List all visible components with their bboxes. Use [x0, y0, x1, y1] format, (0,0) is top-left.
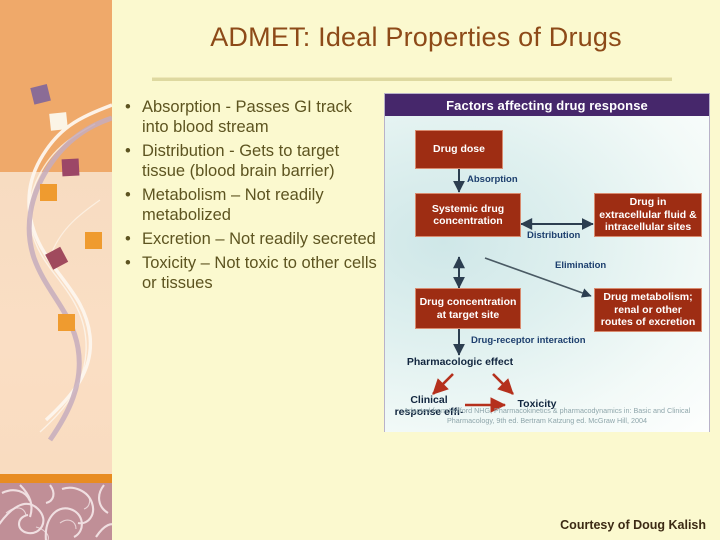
figure-caption: Adapted from Holford NHG, Pharmacokineti… — [399, 406, 695, 426]
bullet-marker-icon: • — [125, 229, 131, 249]
figure-body: Drug dose Systemic drug concentration Dr… — [385, 116, 709, 432]
slide-canvas: ADMET: Ideal Properties of Drugs • Absor… — [0, 0, 720, 540]
box-drug-concentration-target: Drug concentration at target site — [415, 288, 521, 329]
footer-credit: Courtesy of Doug Kalish — [560, 518, 706, 532]
list-item: • Distribution - Gets to target tissue (… — [120, 141, 382, 181]
sidebar-paisley-texture — [0, 483, 112, 540]
bullet-marker-icon: • — [125, 141, 131, 161]
bullet-list: • Absorption - Passes GI track into bloo… — [120, 97, 382, 297]
bullet-marker-icon: • — [125, 253, 131, 273]
box-drug-extracellular: Drug in extracellular fluid & intracellu… — [594, 193, 702, 237]
label-drug-receptor-interaction: Drug-receptor interaction — [471, 335, 586, 346]
list-item: • Excretion – Not readily secreted — [120, 229, 382, 249]
list-item-text: Absorption - Passes GI track into blood … — [142, 98, 352, 136]
figure-header: Factors affecting drug response — [385, 94, 709, 116]
box-drug-dose: Drug dose — [415, 130, 503, 169]
label-distribution: Distribution — [527, 230, 580, 241]
list-item: • Absorption - Passes GI track into bloo… — [120, 97, 382, 137]
list-item-text: Metabolism – Not readily metabolized — [142, 186, 324, 224]
decorative-sidebar — [0, 0, 112, 540]
label-elimination: Elimination — [555, 260, 606, 271]
label-absorption: Absorption — [467, 174, 518, 185]
list-item-text: Toxicity – Not toxic to other cells or t… — [142, 254, 377, 292]
bullet-marker-icon: • — [125, 97, 131, 117]
bullet-marker-icon: • — [125, 185, 131, 205]
list-item-text: Excretion – Not readily secreted — [142, 230, 376, 248]
list-item: • Toxicity – Not toxic to other cells or… — [120, 253, 382, 293]
title-divider — [152, 77, 672, 81]
page-title: ADMET: Ideal Properties of Drugs — [112, 22, 720, 53]
sidebar-orange-band — [0, 474, 112, 483]
box-systemic-drug-concentration: Systemic drug concentration — [415, 193, 521, 237]
sidebar-ribbon-graphic — [0, 0, 112, 483]
figure-drug-response: Factors affecting drug response — [384, 93, 710, 432]
list-item: • Metabolism – Not readily metabolized — [120, 185, 382, 225]
outcome-pharmacologic-effect: Pharmacologic effect — [403, 356, 517, 368]
box-drug-metabolism: Drug metabolism; renal or other routes o… — [594, 288, 702, 332]
list-item-text: Distribution - Gets to target tissue (bl… — [142, 142, 339, 180]
